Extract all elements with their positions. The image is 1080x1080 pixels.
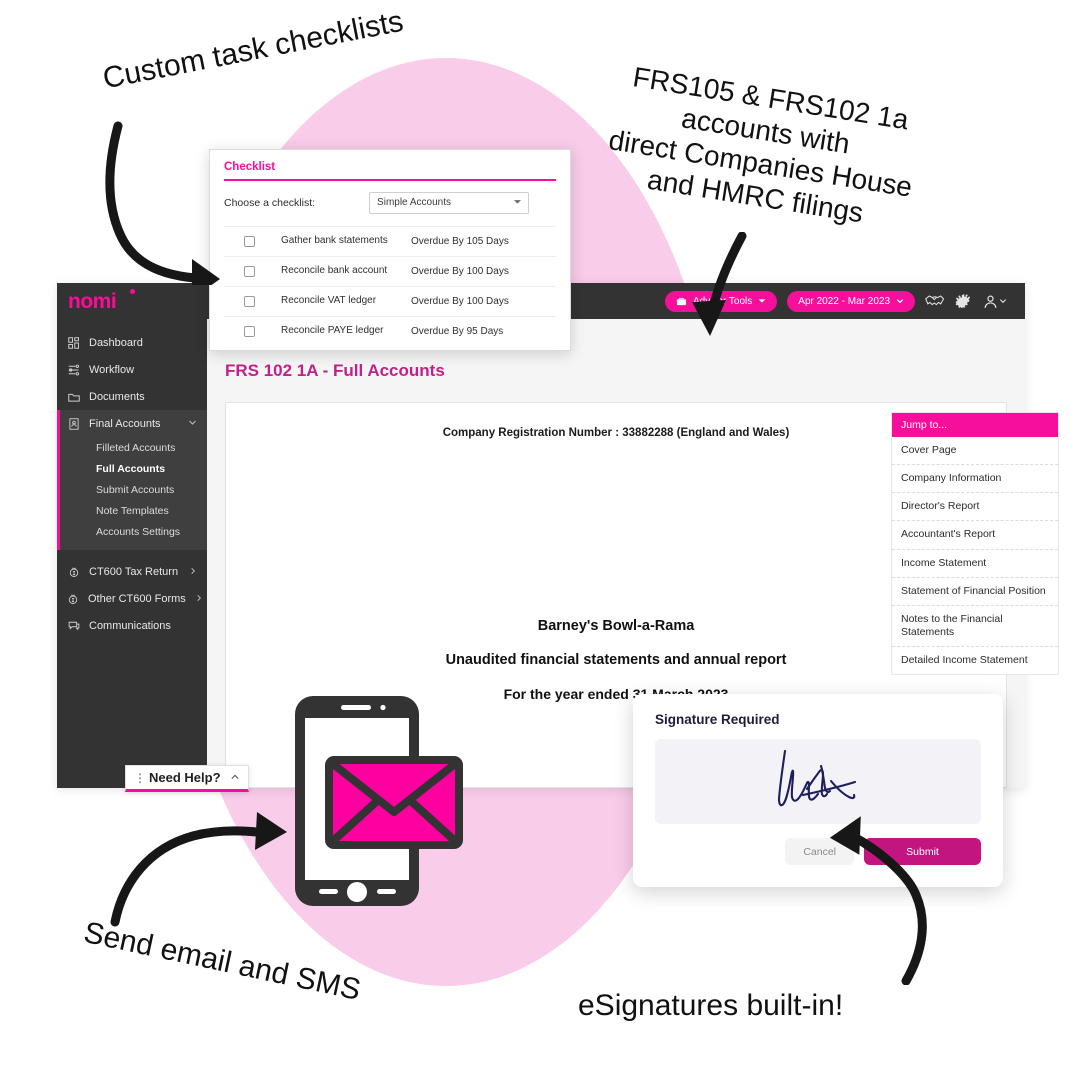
sidebar-subitem-label: Filleted Accounts (96, 442, 175, 454)
tax-icon (67, 593, 79, 605)
jump-to-panel: Jump to... Cover Page Company Informatio… (891, 412, 1059, 675)
period-selector-button[interactable]: Apr 2022 - Mar 2023 (787, 291, 915, 312)
sidebar-subitem-note-templates[interactable]: Note Templates (60, 500, 207, 521)
chevron-down-icon (514, 198, 521, 207)
tax-icon (67, 566, 80, 578)
logo-dot-icon (130, 289, 135, 294)
checklist-due-label: Overdue By 95 Days (411, 326, 526, 337)
jump-to-item-detailed-income-statement[interactable]: Detailed Income Statement (892, 647, 1058, 674)
handshake-icon[interactable] (925, 293, 945, 309)
contacts-icon (67, 418, 80, 430)
jump-to-header: Jump to... (892, 413, 1058, 437)
sidebar-subitem-label: Submit Accounts (96, 484, 174, 496)
jump-to-item-accountants-report[interactable]: Accountant's Report (892, 521, 1058, 549)
callout-esignatures-built-in: eSignatures built-in! (578, 988, 843, 1023)
checklist-chooser-row: Choose a checklist: Simple Accounts (224, 192, 556, 214)
checklist-divider (224, 179, 556, 181)
arrow-to-checklist (100, 120, 250, 285)
envelope-icon (329, 760, 459, 845)
jump-to-item-income-statement[interactable]: Income Statement (892, 550, 1058, 578)
checklist-due-label: Overdue By 105 Days (411, 236, 526, 247)
document-subtitle: Unaudited financial statements and annua… (226, 652, 1006, 668)
checklist-due-label: Overdue By 100 Days (411, 296, 526, 307)
page-title: FRS 102 1A - Full Accounts (225, 361, 445, 381)
sidebar-item-label: Communications (89, 620, 171, 632)
sidebar-item-label: Dashboard (89, 337, 143, 349)
crown-crest-icon[interactable] (955, 293, 972, 310)
period-label: Apr 2022 - Mar 2023 (798, 296, 890, 307)
need-help-label: Need Help? (149, 770, 221, 785)
need-help-widget[interactable]: ⋮ Need Help? (125, 765, 249, 792)
checklist-checkbox[interactable] (244, 326, 255, 337)
jump-to-item-directors-report[interactable]: Director's Report (892, 493, 1058, 521)
dashboard-icon (67, 337, 80, 349)
sidebar: Dashboard Workflow Documents (57, 319, 207, 788)
chevron-down-icon (896, 297, 904, 305)
sidebar-item-documents[interactable]: Documents (57, 383, 207, 410)
checklist-task-label: Reconcile PAYE ledger (281, 325, 411, 338)
jump-to-item-statement-of-financial-position[interactable]: Statement of Financial Position (892, 578, 1058, 606)
checklist-task-label: Reconcile VAT ledger (281, 295, 411, 308)
sidebar-divider (57, 550, 207, 558)
checklist-row[interactable]: Gather bank statements Overdue By 105 Da… (224, 226, 556, 256)
workflow-icon (67, 364, 80, 376)
checklist-task-label: Gather bank statements (281, 235, 411, 248)
sidebar-item-label: Workflow (89, 364, 134, 376)
user-icon[interactable] (982, 293, 1007, 310)
sidebar-item-label: Documents (89, 391, 145, 403)
folder-icon (67, 391, 80, 403)
sidebar-subitem-full-accounts[interactable]: Full Accounts (60, 458, 207, 479)
checklist-due-label: Overdue By 100 Days (411, 266, 526, 277)
sidebar-subitem-label: Accounts Settings (96, 526, 180, 538)
document-company-name: Barney's Bowl-a-Rama (226, 618, 1006, 634)
phone-email-graphic (287, 692, 483, 915)
nomi-logo[interactable]: nomi (57, 291, 207, 312)
checklist-select[interactable]: Simple Accounts (369, 192, 529, 214)
chevron-right-icon (195, 594, 203, 604)
checklist-checkbox[interactable] (244, 296, 255, 307)
checklist-row[interactable]: Reconcile VAT ledger Overdue By 100 Days (224, 286, 556, 316)
sidebar-item-dashboard[interactable]: Dashboard (57, 329, 207, 356)
checklist-row[interactable]: Reconcile bank account Overdue By 100 Da… (224, 256, 556, 286)
checklist-select-value: Simple Accounts (377, 197, 451, 208)
jump-to-item-company-information[interactable]: Company Information (892, 465, 1058, 493)
jump-to-item-notes-to-the-financial-statements[interactable]: Notes to the Financial Statements (892, 606, 1058, 647)
arrow-to-phone (105, 790, 295, 930)
logo-text: nomi (68, 290, 116, 313)
signature-dialog-title: Signature Required (655, 712, 981, 727)
sidebar-subitem-filleted-accounts[interactable]: Filleted Accounts (60, 437, 207, 458)
company-registration-number: Company Registration Number : 33882288 (… (226, 427, 1006, 439)
chevron-down-icon (188, 418, 197, 429)
sidebar-item-label: Other CT600 Forms (88, 593, 186, 605)
sidebar-item-other-ct600-forms[interactable]: Other CT600 Forms (57, 585, 207, 612)
sidebar-item-workflow[interactable]: Workflow (57, 356, 207, 383)
sidebar-subitem-label: Full Accounts (96, 463, 165, 475)
sidebar-item-final-accounts[interactable]: Final Accounts (60, 410, 207, 437)
checklist-panel: Checklist Choose a checklist: Simple Acc… (209, 149, 571, 351)
sidebar-subitem-accounts-settings[interactable]: Accounts Settings (60, 521, 207, 542)
sidebar-item-ct600-tax-return[interactable]: CT600 Tax Return (57, 558, 207, 585)
arrow-to-signature (810, 805, 940, 985)
checklist-task-label: Reconcile bank account (281, 265, 411, 278)
sidebar-item-label: Final Accounts (89, 418, 161, 430)
poster-stage: nomi Advisor Tools Apr 2022 - Ma (0, 0, 1080, 1080)
chat-icon (67, 620, 80, 632)
arrow-to-document (680, 232, 780, 367)
chevron-right-icon (189, 567, 197, 577)
chevron-up-icon (230, 773, 240, 783)
jump-to-item-cover-page[interactable]: Cover Page (892, 437, 1058, 465)
sidebar-item-label: CT600 Tax Return (89, 566, 178, 578)
sidebar-group-final-accounts: Final Accounts Filleted Accounts Full Ac… (57, 410, 207, 550)
drag-handle-icon: ⋮ (134, 771, 145, 785)
checklist-title: Checklist (224, 161, 556, 179)
sidebar-subitem-label: Note Templates (96, 505, 169, 517)
sidebar-subitem-submit-accounts[interactable]: Submit Accounts (60, 479, 207, 500)
sidebar-item-communications[interactable]: Communications (57, 612, 207, 639)
checklist-row[interactable]: Reconcile PAYE ledger Overdue By 95 Days (224, 316, 556, 346)
